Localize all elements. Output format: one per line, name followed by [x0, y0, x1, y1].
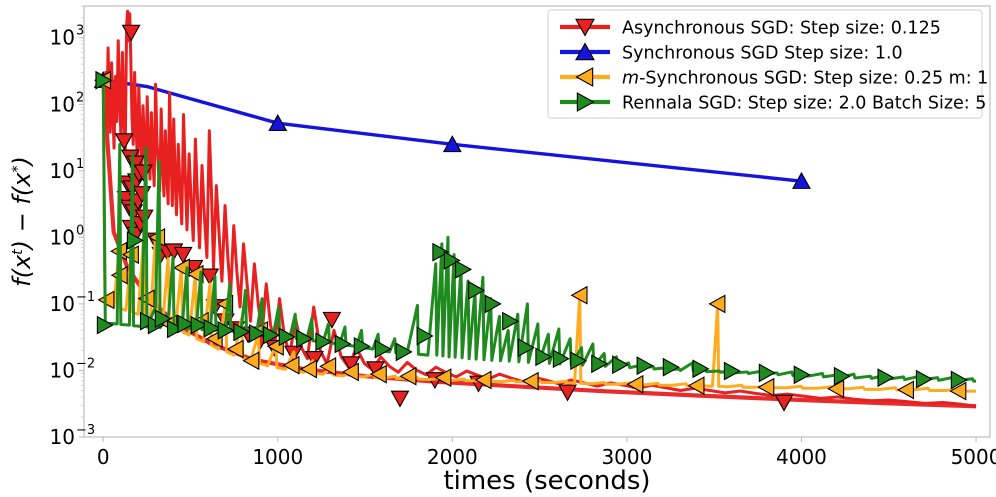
- svg-text:10: 10: [50, 358, 75, 382]
- x-axis-title: times (seconds): [443, 466, 650, 496]
- legend-entry-3[interactable]: Rennala SGD: Step size: 2.0 Batch Size: …: [560, 93, 986, 114]
- svg-text:10: 10: [50, 225, 75, 249]
- svg-text:10: 10: [50, 159, 75, 183]
- svg-text:10: 10: [50, 425, 75, 449]
- svg-text:2: 2: [76, 90, 84, 105]
- svg-text:10: 10: [50, 26, 75, 50]
- convergence-chart: 010002000300040005000times (seconds)10−3…: [0, 0, 996, 497]
- legend-label: Asynchronous SGD: Step size: 0.125: [622, 19, 941, 39]
- figure-container: 010002000300040005000times (seconds)10−3…: [0, 0, 996, 497]
- y-axis-title: f(xt) − f(x*): [8, 156, 36, 287]
- svg-text:3: 3: [76, 24, 84, 39]
- svg-text:10: 10: [50, 92, 75, 116]
- legend-entry-2[interactable]: m-Synchronous SGD: Step size: 0.25 m: 1: [560, 68, 988, 89]
- svg-text:10: 10: [50, 292, 75, 316]
- svg-text:f(xt) − f(x*): f(xt) − f(x*): [8, 156, 36, 287]
- x-tick-label-0: 0: [97, 445, 110, 469]
- svg-text:1: 1: [76, 157, 84, 172]
- x-tick-label-1000: 1000: [252, 445, 303, 469]
- legend-label: m-Synchronous SGD: Step size: 0.25 m: 1: [622, 69, 988, 89]
- legend-layer[interactable]: Asynchronous SGD: Step size: 0.125Synchr…: [548, 10, 988, 118]
- svg-text:−3: −3: [76, 423, 95, 438]
- x-tick-label-5000: 5000: [951, 445, 996, 469]
- svg-text:−1: −1: [76, 290, 95, 305]
- svg-text:−2: −2: [76, 356, 95, 371]
- x-tick-label-4000: 4000: [776, 445, 827, 469]
- legend-label: Rennala SGD: Step size: 2.0 Batch Size: …: [622, 94, 986, 114]
- svg-text:0: 0: [76, 223, 84, 238]
- legend-label: Synchronous SGD Step size: 1.0: [622, 44, 903, 64]
